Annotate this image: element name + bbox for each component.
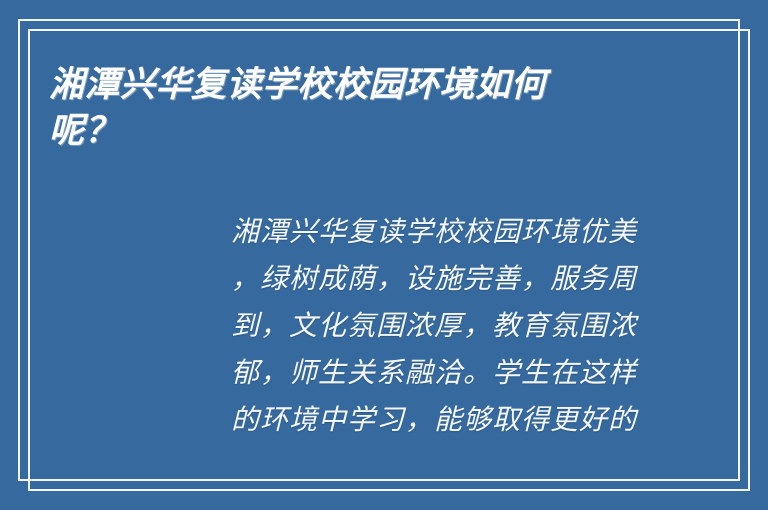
poster-canvas: 湘潭兴华复读学校校园环境如何 呢？ 湘潭兴华复读学校校园环境优美 ，绿树成荫，设… [0, 0, 768, 510]
body-line-5: 的环境中学习，能够取得更好的 [231, 396, 651, 443]
body-line-4: 郁，师生关系融洽。学生在这样 [231, 349, 651, 396]
body-line-2: ，绿树成荫，设施完善，服务周 [231, 255, 651, 302]
title-line-2: 呢？ [49, 108, 649, 154]
page-title: 湘潭兴华复读学校校园环境如何 呢？ [49, 62, 649, 154]
body-line-1: 湘潭兴华复读学校校园环境优美 [231, 208, 651, 255]
body-line-3: 到，文化氛围浓厚，教育氛围浓 [231, 302, 651, 349]
title-line-1: 湘潭兴华复读学校校园环境如何 [49, 62, 649, 108]
answer-text: 湘潭兴华复读学校校园环境优美 ，绿树成荫，设施完善，服务周 到，文化氛围浓厚，教… [231, 208, 651, 443]
